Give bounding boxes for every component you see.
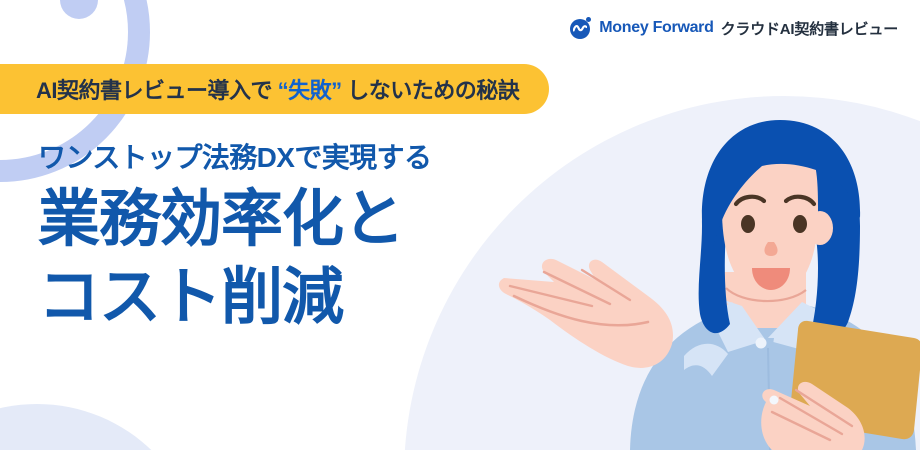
eye-left	[741, 215, 755, 233]
highlight-banner: AI契約書レビュー導入で “失敗” しないための秘訣	[0, 64, 549, 114]
eye-right	[793, 215, 807, 233]
open-palm-hand	[499, 259, 673, 368]
banner-text-prefix: AI契約書レビュー導入で	[36, 78, 278, 103]
brand-logo-bar[interactable]: Money Forward クラウドAI契約書レビュー	[570, 17, 898, 39]
banner-text-suffix: しないための秘訣	[342, 78, 520, 103]
promo-banner-canvas: Money Forward クラウドAI契約書レビュー AI契約書レビュー導入で…	[0, 0, 920, 450]
businesswoman-presenting-illustration	[480, 100, 920, 450]
money-forward-logo-icon	[570, 17, 592, 39]
headline-lead: ワンストップ法務DXで実現する	[38, 140, 431, 176]
periwinkle-dot-decoration	[60, 0, 98, 19]
banner-text-accent: “失敗”	[278, 78, 342, 103]
banner-text: AI契約書レビュー導入で “失敗” しないための秘訣	[36, 73, 519, 105]
product-name: クラウドAI契約書レビュー	[721, 18, 898, 39]
brand-name: Money Forward	[599, 19, 713, 37]
pale-blue-circle-bottom-left	[0, 404, 202, 450]
headline-line-2: コスト削減	[38, 258, 431, 337]
shirt-button	[756, 338, 767, 349]
headline-block: ワンストップ法務DXで実現する 業務効率化と コスト削減	[38, 140, 431, 337]
headline-line-1: 業務効率化と	[38, 180, 431, 259]
